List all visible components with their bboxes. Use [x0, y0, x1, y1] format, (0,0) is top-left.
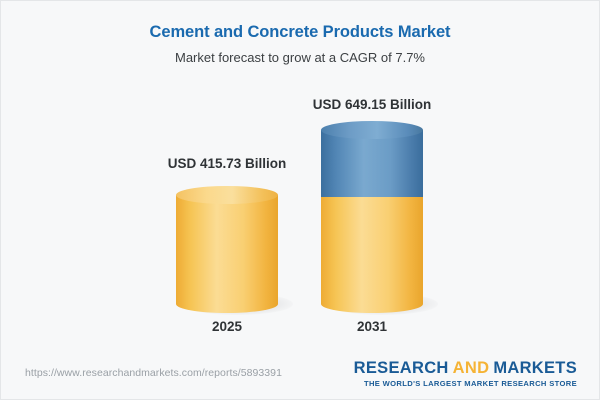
cylinder-segment-growth-2031	[321, 130, 423, 197]
bar-category-label-2025: 2025	[147, 319, 307, 334]
cylinder-2031	[321, 121, 423, 304]
logo-tagline: THE WORLD'S LARGEST MARKET RESEARCH STOR…	[354, 379, 577, 388]
logo-word-research: RESEARCH	[354, 359, 449, 377]
report-url[interactable]: https://www.researchandmarkets.com/repor…	[25, 367, 282, 379]
cylinder-top-2025	[176, 186, 278, 204]
cylinder-top-2031	[321, 121, 423, 139]
logo-wordmark: RESEARCHANDMARKETS	[354, 359, 577, 378]
cylinder-2025	[176, 186, 278, 304]
logo-word-markets: MARKETS	[493, 359, 577, 377]
market-forecast-infographic: Cement and Concrete Products Market Mark…	[0, 0, 600, 400]
bar-category-label-2031: 2031	[292, 319, 452, 334]
logo-word-and: AND	[453, 359, 490, 377]
cylinder-segment-base-2031	[321, 195, 423, 304]
bar-value-label-2031: USD 649.15 Billion	[272, 97, 472, 112]
cylinder-body-2025	[176, 195, 278, 304]
footer: https://www.researchandmarkets.com/repor…	[1, 355, 599, 399]
bar-value-label-2025: USD 415.73 Billion	[127, 156, 327, 171]
research-and-markets-logo[interactable]: RESEARCHANDMARKETS THE WORLD'S LARGEST M…	[354, 359, 577, 388]
chart-plot-area: USD 415.73 Billion 2025 USD 649.15 Billi…	[1, 1, 600, 400]
